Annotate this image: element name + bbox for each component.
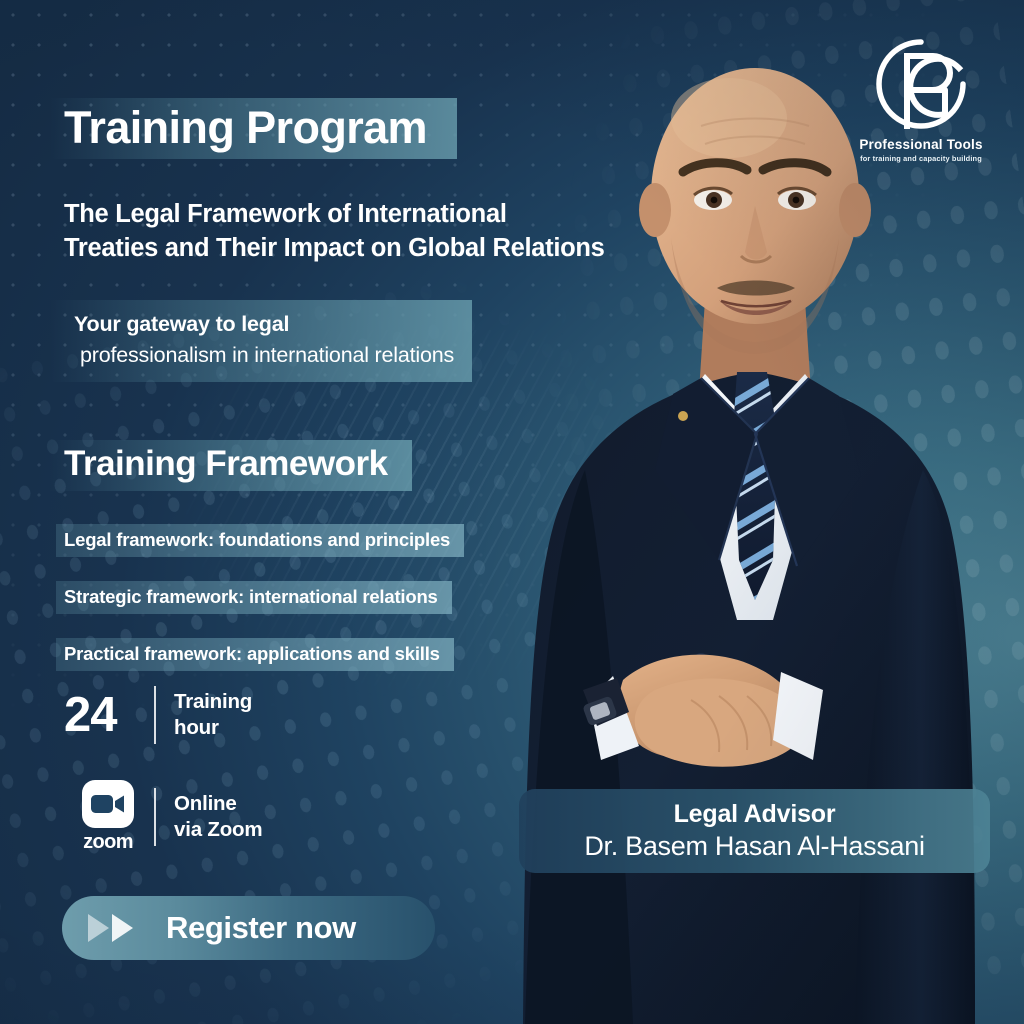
register-now-label: Register now [166, 910, 356, 946]
fact-delivery: zoom Online via Zoom [64, 780, 262, 854]
tagline-line-1: Your gateway to legal [74, 309, 454, 340]
zoom-video-icon [82, 780, 134, 828]
duration-label: Training hour [174, 689, 252, 741]
promotional-poster: Professional Tools for training and capa… [0, 0, 1024, 1024]
program-tagline: Your gateway to legal professionalism in… [64, 300, 472, 382]
framework-item: Practical framework: applications and sk… [64, 638, 454, 671]
framework-list: Legal framework: foundations and princip… [64, 524, 464, 695]
kicker-text: Training Program [64, 102, 427, 153]
framework-heading-text: Training Framework [64, 444, 388, 483]
double-chevron-right-icon [84, 911, 146, 945]
brand-tagline: for training and capacity building [846, 154, 996, 163]
delivery-label: Online via Zoom [174, 791, 262, 843]
speaker-name-plate: Legal Advisor Dr. Basem Hasan Al-Hassani [519, 789, 990, 873]
title-line-2: Treaties and Their Impact on Global Rela… [64, 232, 644, 266]
pt-monogram-icon [871, 34, 971, 134]
title-line-1: The Legal Framework of International [64, 198, 644, 232]
program-facts: 24 Training hour zoom [64, 686, 262, 890]
zoom-wordmark: zoom [83, 831, 133, 854]
fact-duration: 24 Training hour [64, 686, 262, 744]
program-title: The Legal Framework of International Tre… [64, 198, 644, 266]
duration-value: 24 [64, 691, 117, 740]
speaker-role: Legal Advisor [674, 800, 836, 829]
register-now-button[interactable]: Register now [62, 896, 435, 960]
framework-heading: Training Framework [64, 440, 412, 491]
program-kicker: Training Program [64, 98, 457, 159]
brand-name: Professional Tools [846, 137, 996, 152]
framework-item: Strategic framework: international relat… [64, 581, 452, 614]
framework-item: Legal framework: foundations and princip… [64, 524, 464, 557]
brand-logo: Professional Tools for training and capa… [846, 34, 996, 163]
speaker-name: Dr. Basem Hasan Al-Hassani [584, 830, 924, 862]
fact-divider [154, 788, 156, 846]
fact-divider [154, 686, 156, 744]
tagline-line-2: professionalism in international relatio… [74, 340, 454, 371]
